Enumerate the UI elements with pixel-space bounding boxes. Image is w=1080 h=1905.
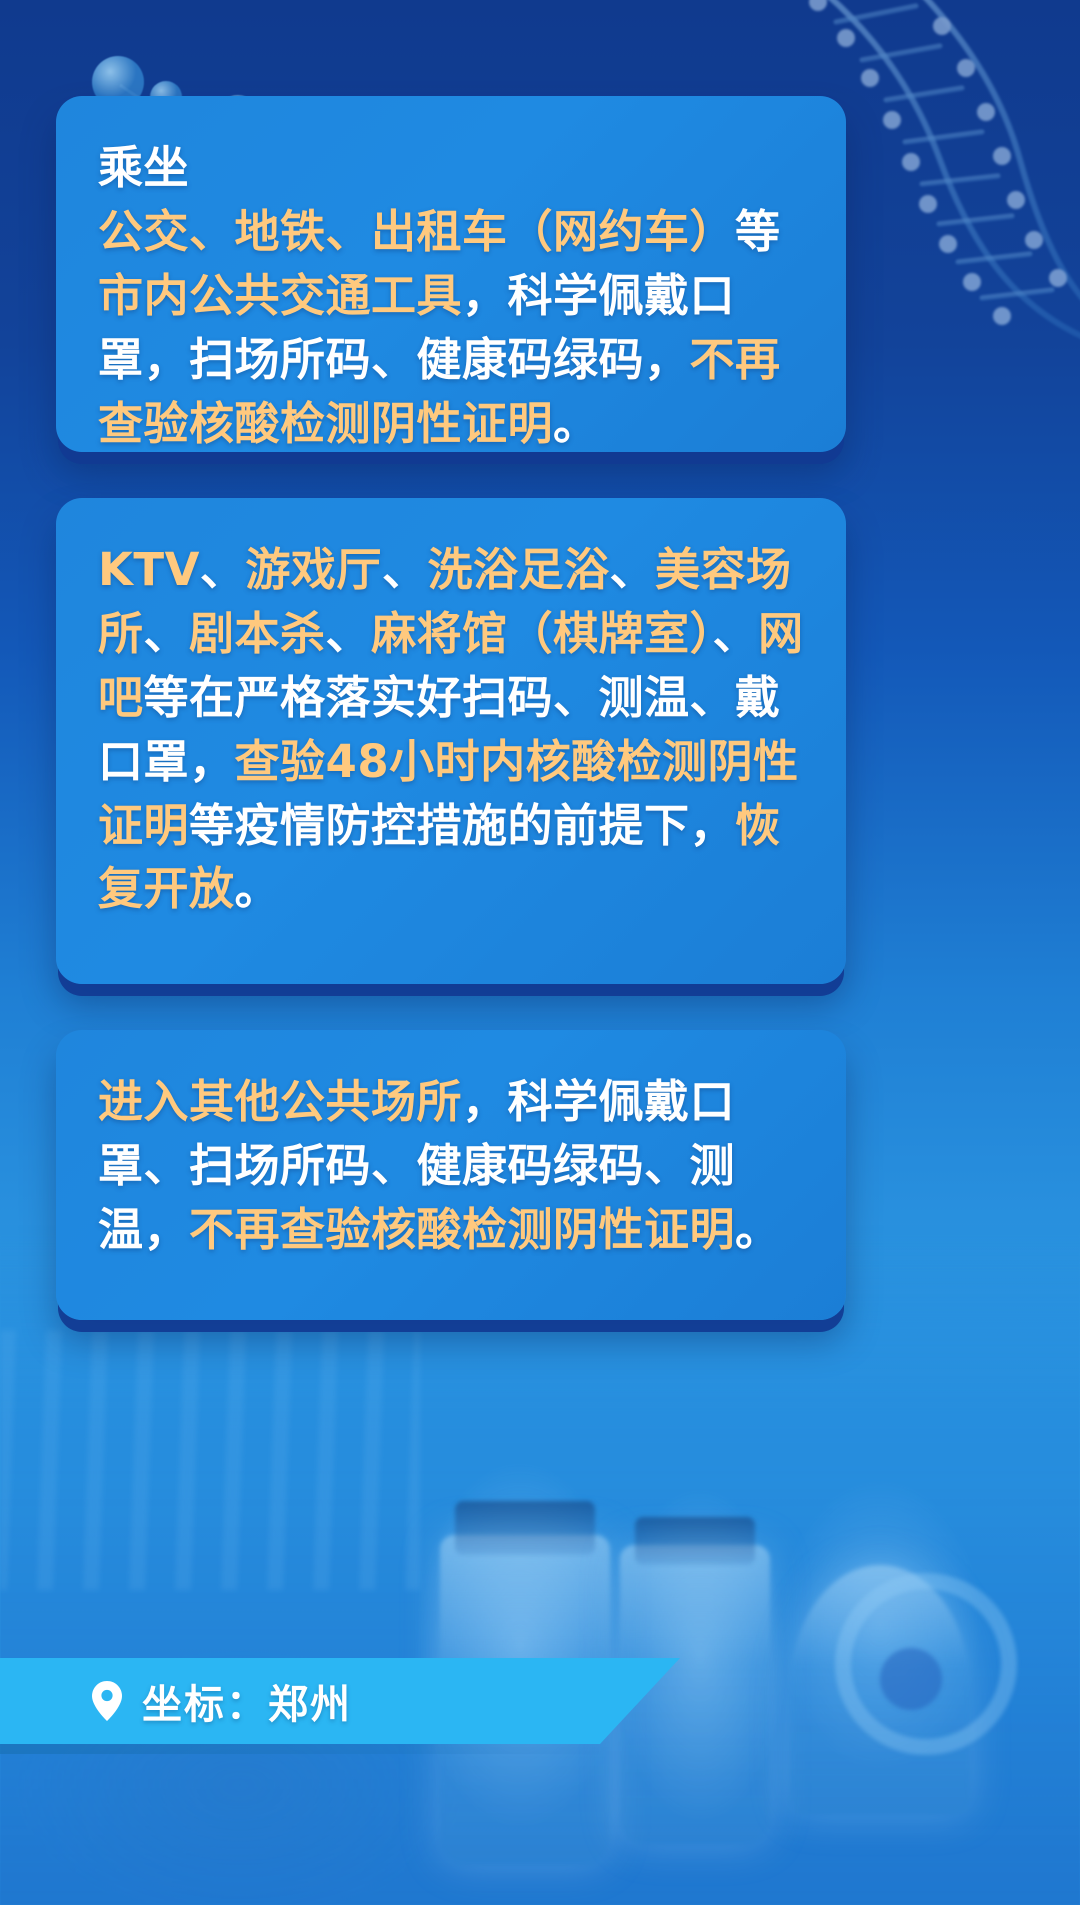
location-banner-shadow <box>0 1744 610 1754</box>
card-other-public: 进入其他公共场所，科学佩戴口罩、扫场所码、健康码绿码、测温，不再查验核酸检测阴性… <box>56 1030 846 1320</box>
text-segment: 乘坐 <box>98 141 189 194</box>
text-segment: 。 <box>553 397 599 450</box>
text-segment-highlight: 麻将馆（棋牌室） <box>371 607 713 660</box>
text-segment: 、 <box>144 607 190 660</box>
measure-cards-list: 乘坐公交、地铁、出租车（网约车）等市内公共交通工具，科学佩戴口罩，扫场所码、健康… <box>56 96 846 1366</box>
text-segment-highlight: 公交、地铁、出租车（网约车） <box>98 205 735 258</box>
text-segment-highlight: 市内公共交通工具 <box>98 269 462 322</box>
text-segment: 、 <box>713 607 759 660</box>
text-segment: 、 <box>609 543 655 596</box>
text-segment-highlight: 不再查验核酸检测阴性证明 <box>189 1203 735 1256</box>
text-segment: 、 <box>326 607 372 660</box>
text-segment: 、 <box>200 543 246 596</box>
location-pin-icon <box>92 1681 122 1721</box>
text-segment-highlight: KTV <box>98 543 200 596</box>
text-segment-highlight: 洗浴足浴 <box>427 543 609 596</box>
card-transport-text: 乘坐公交、地铁、出租车（网约车）等市内公共交通工具，科学佩戴口罩，扫场所码、健康… <box>98 136 804 455</box>
location-banner: 坐标：郑州 <box>0 1658 680 1744</box>
card-venues-text: KTV、游戏厅、洗浴足浴、美容场所、剧本杀、麻将馆（棋牌室）、网吧等在严格落实好… <box>98 538 804 921</box>
vial-cap-graphic <box>635 1517 755 1565</box>
vial-cap-graphic <box>455 1501 595 1555</box>
text-segment: 、 <box>382 543 428 596</box>
vial-ring-inner-graphic <box>880 1648 942 1710</box>
location-label: 坐标：郑州 <box>142 1672 352 1730</box>
background-stripes <box>0 1330 420 1590</box>
text-segment-highlight: 进入其他公共场所 <box>98 1075 462 1128</box>
text-segment: 。 <box>235 862 281 915</box>
text-segment-highlight: 剧本杀 <box>189 607 326 660</box>
text-segment: 等 <box>735 205 781 258</box>
text-segment: 。 <box>735 1203 781 1256</box>
card-transport: 乘坐公交、地铁、出租车（网约车）等市内公共交通工具，科学佩戴口罩，扫场所码、健康… <box>56 96 846 452</box>
poster-root: 乘坐公交、地铁、出租车（网约车）等市内公共交通工具，科学佩戴口罩，扫场所码、健康… <box>0 0 1080 1905</box>
card-other-public-text: 进入其他公共场所，科学佩戴口罩、扫场所码、健康码绿码、测温，不再查验核酸检测阴性… <box>98 1070 804 1262</box>
text-segment-highlight: 游戏厅 <box>245 543 382 596</box>
text-segment: 等疫情防控措施的前提下， <box>189 799 735 852</box>
card-venues: KTV、游戏厅、洗浴足浴、美容场所、剧本杀、麻将馆（棋牌室）、网吧等在严格落实好… <box>56 498 846 984</box>
